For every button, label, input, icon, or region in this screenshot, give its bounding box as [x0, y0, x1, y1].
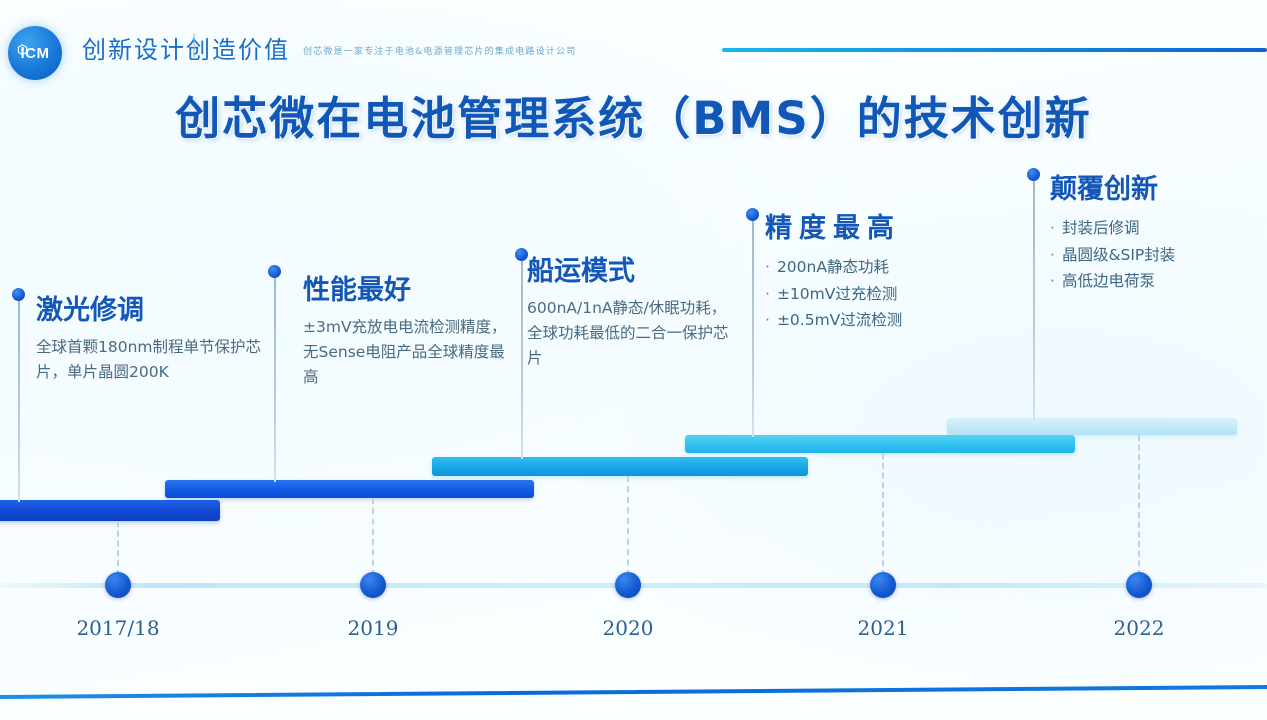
bullet-icon: · [765, 285, 770, 303]
slogan-left: 创新设计 [82, 36, 186, 64]
milestone-stem-4 [752, 216, 754, 437]
list-item: ·高低边电荷泵 [1050, 268, 1265, 295]
milestone-stem-1 [18, 296, 20, 502]
milestone-3-body: 600nA/1nA静态/休眠功耗，全球功耗最低的二合一保护芯片 [527, 296, 732, 371]
slogan-divider: | [190, 30, 200, 58]
year-dot-2022 [1126, 572, 1152, 598]
year-label-2022: 2022 [1059, 616, 1219, 640]
bullet-icon: · [1050, 246, 1055, 264]
milestone-2-title: 性能最好 [303, 268, 518, 307]
milestone-1: 激光修调 全球首颗180nm制程单节保护芯片，单片晶圆200K [36, 288, 268, 385]
milestone-1-body: 全球首颗180nm制程单节保护芯片，单片晶圆200K [36, 335, 268, 385]
milestone-5-bullet-3: 高低边电荷泵 [1062, 272, 1155, 290]
bullet-icon: · [765, 258, 770, 276]
bottom-accent-line [0, 685, 1267, 699]
slogan-right: 创造价值 [186, 36, 290, 64]
year-dot-2021 [870, 572, 896, 598]
timeline-bar-4 [685, 435, 1075, 453]
timeline-bar-3 [432, 457, 808, 476]
year-connector-4 [882, 453, 884, 576]
timeline-bar-5 [947, 418, 1237, 435]
header-accent-rule [722, 48, 1267, 52]
year-dot-2017-18 [105, 572, 131, 598]
year-connector-5 [1138, 435, 1140, 576]
milestone-4-title: 精度最高 [765, 206, 1015, 245]
list-item: ·±0.5mV过流检测 [765, 307, 1015, 334]
milestone-stem-5 [1033, 176, 1035, 420]
milestone-2-body: ±3mV充放电电流检测精度，无Sense电阻产品全球精度最高 [303, 315, 518, 390]
milestone-4-bullets: ·200nA静态功耗 ·±10mV过充检测 ·±0.5mV过流检测 [765, 254, 1015, 334]
milestone-4-bullet-2: ±10mV过充检测 [777, 285, 897, 303]
milestone-5-bullet-2: 晶圆级&SIP封装 [1062, 246, 1175, 264]
company-logo: iCM [8, 26, 62, 80]
year-label-2017-18: 2017/18 [38, 616, 198, 640]
milestone-dot-1 [12, 288, 25, 301]
milestone-5-title: 颠覆创新 [1050, 167, 1265, 206]
timeline-bar-2 [165, 480, 534, 498]
timeline-bar-1 [0, 500, 220, 521]
milestone-4-bullet-3: ±0.5mV过流检测 [777, 311, 902, 329]
milestone-dot-2 [268, 265, 281, 278]
slide-header: iCM 创新设计|创造价值 创芯微是一家专注于电池&电源管理芯片的集成电路设计公… [0, 0, 1267, 82]
milestone-3: 船运模式 600nA/1nA静态/休眠功耗，全球功耗最低的二合一保护芯片 [527, 249, 732, 371]
year-connector-1 [117, 521, 119, 576]
bullet-icon: · [1050, 272, 1055, 290]
year-dot-2020 [615, 572, 641, 598]
header-sub-slogan: 创芯微是一家专注于电池&电源管理芯片的集成电路设计公司 [303, 44, 576, 57]
list-item: ·封装后修调 [1050, 215, 1265, 242]
header-slogan: 创新设计|创造价值 [82, 30, 290, 65]
milestone-5-bullet-1: 封装后修调 [1062, 219, 1140, 237]
list-item: ·±10mV过充检测 [765, 281, 1015, 308]
milestone-stem-3 [521, 256, 523, 459]
chip-circle-logo-icon [17, 44, 28, 59]
year-label-2020: 2020 [548, 616, 708, 640]
milestone-1-title: 激光修调 [36, 288, 268, 327]
year-label-2021: 2021 [803, 616, 963, 640]
milestone-2: 性能最好 ±3mV充放电电流检测精度，无Sense电阻产品全球精度最高 [303, 268, 518, 390]
list-item: ·晶圆级&SIP封装 [1050, 242, 1265, 269]
year-connector-2 [372, 498, 374, 576]
milestone-4-bullet-1: 200nA静态功耗 [777, 258, 889, 276]
year-dot-2019 [360, 572, 386, 598]
milestone-5-bullets: ·封装后修调 ·晶圆级&SIP封装 ·高低边电荷泵 [1050, 215, 1265, 295]
slide-canvas: iCM 创新设计|创造价值 创芯微是一家专注于电池&电源管理芯片的集成电路设计公… [0, 0, 1267, 720]
year-connector-3 [627, 476, 629, 576]
milestone-stem-2 [274, 274, 276, 482]
list-item: ·200nA静态功耗 [765, 254, 1015, 281]
bullet-icon: · [1050, 219, 1055, 237]
bullet-icon: · [765, 311, 770, 329]
milestone-4: 精度最高 ·200nA静态功耗 ·±10mV过充检测 ·±0.5mV过流检测 [765, 206, 1015, 334]
page-title: 创芯微在电池管理系统（BMS）的技术创新 [0, 82, 1267, 147]
milestone-5: 颠覆创新 ·封装后修调 ·晶圆级&SIP封装 ·高低边电荷泵 [1050, 167, 1265, 295]
year-label-2019: 2019 [293, 616, 453, 640]
milestone-3-title: 船运模式 [527, 249, 732, 288]
milestone-dot-5 [1027, 168, 1040, 181]
milestone-dot-4 [746, 208, 759, 221]
